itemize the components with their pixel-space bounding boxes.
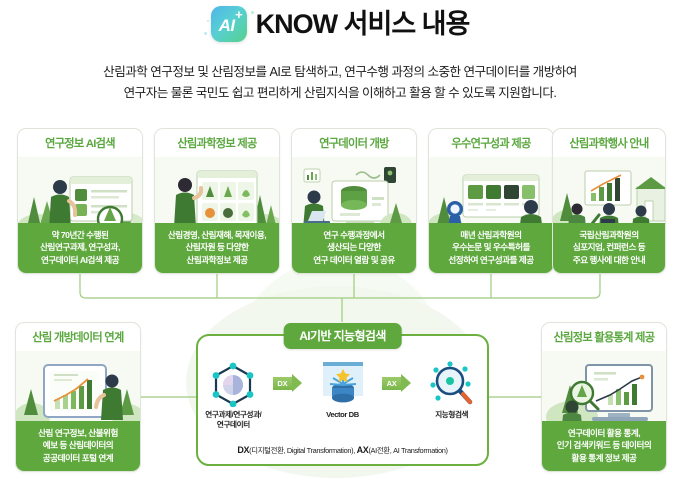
footnote-dx-term: DX (237, 445, 249, 455)
service-card-open-data-link[interactable]: 산림 개방데이터 연계 산림 연구정보, 산불위험예보 등 산림데이터의공공데이… (15, 322, 141, 472)
illustration-presentation-event-with-people (553, 157, 665, 223)
flow-step-vector-db: Vector DB (307, 360, 378, 420)
ai-logo-plus: + (235, 8, 243, 21)
arrow-ax-label: AX (382, 377, 401, 390)
card-title: 산림과학정보 제공 (155, 129, 279, 157)
subtitle-line-2: 연구자는 물론 국민도 쉽고 편리하게 산림지식을 이해하고 활용 할 수 있도… (40, 83, 640, 104)
card-description: 매년 산림과학원의우수논문 및 우수특허를선정하여 연구성과를 제공 (429, 223, 553, 273)
ai-panel-badge: AI기반 지능형검색 (283, 323, 402, 349)
illustration-person-at-desk-with-database (292, 157, 416, 223)
card-description: 연구 수행과정에서생산되는 다양한연구 데이터 열람 및 공유 (292, 223, 416, 273)
footnote-dx-rest: (디지털전환, Digital Transformation), (249, 446, 356, 455)
flow-step-label: Vector DB (307, 410, 378, 420)
card-description: 산림 연구정보, 산불위험예보 등 산림데이터의공공데이터 포털 연계 (16, 421, 140, 471)
page-header: AI + KNOW 서비스 내용 (0, 6, 680, 42)
hexagon-network-icon (198, 360, 269, 408)
service-card-usage-statistics[interactable]: 산림정보 활용통계 제공 연구데이터 활용 통계,인기 검색키워드 등 데이터의… (541, 322, 667, 472)
card-title: 산림정보 활용통계 제공 (542, 323, 666, 351)
footnote-ax-rest: (AI전환, AI Transformation) (368, 446, 447, 455)
ai-flow-diagram: 연구과제/연구성과/연구데이터 DX (198, 360, 487, 431)
footnote-ax-term: AX (357, 445, 369, 455)
service-card-forest-events[interactable]: 산림과학행사 안내 국립산림과학원의심포지엄, 컨퍼런스 등주요 행사 (552, 128, 666, 274)
subtitle-line-1: 산림과학 연구정보 및 산림정보를 AI로 탐색하고, 연구수행 과정의 소중한… (40, 62, 640, 83)
card-title: 연구정보 AI검색 (18, 129, 142, 157)
logo-spark-3 (251, 11, 254, 14)
illustration-person-presenting-info-grid (155, 157, 279, 223)
service-card-research-ai-search[interactable]: 연구정보 AI검색 약 70년간 수행된산림연구과제, 연구성과,연구데이터 A… (17, 128, 143, 274)
illustration-magnifier-over-statistics-monitor (542, 351, 666, 421)
logo-spark-1 (204, 32, 207, 35)
service-card-research-data-open[interactable]: 연구데이터 개방 연구 수행과정에서생산되는 다양한연구 (291, 128, 417, 274)
card-description: 약 70년간 수행된산림연구과제, 연구성과,연구데이터 AI검색 제공 (18, 223, 142, 273)
flow-step-label: 연구과제/연구성과/연구데이터 (198, 410, 269, 431)
illustration-person-with-growth-chart-tablet (16, 351, 140, 421)
arrow-ax-head (401, 374, 411, 392)
arrow-ax: AX (381, 360, 413, 392)
card-title: 산림 개방데이터 연계 (16, 323, 140, 351)
logo-spark-2 (207, 20, 209, 22)
service-card-forest-science-info[interactable]: 산림과학정보 제공 산림경영, 산림재해, 목재이용,산림자원 등 다 (154, 128, 280, 274)
card-title: 연구데이터 개방 (292, 129, 416, 157)
arrow-dx-head (292, 374, 302, 392)
card-description: 산림경영, 산림재해, 목재이용,산림자원 등 다양한산림과학정보 제공 (155, 223, 279, 273)
arrow-dx: DX (272, 360, 304, 392)
flow-step-label: 지능형검색 (416, 410, 487, 420)
card-title: 우수연구성과 제공 (429, 129, 553, 157)
magnifier-nodes-icon (416, 360, 487, 408)
vector-database-icon (307, 360, 378, 408)
illustration-person-searching-research-portal (18, 157, 142, 223)
arrow-dx-label: DX (273, 377, 292, 390)
ai-panel-footnote: DX(디지털전환, Digital Transformation), AX(AI… (198, 445, 487, 456)
ai-plus-logo: AI + (211, 6, 247, 42)
flow-step-research-data: 연구과제/연구성과/연구데이터 (198, 360, 269, 431)
card-description: 국립산림과학원의심포지엄, 컨퍼런스 등주요 행사에 대한 안내 (553, 223, 665, 273)
service-card-excellent-results[interactable]: 우수연구성과 제공 매년 산림과학원의우수논문 및 우수특허를선정하여 (428, 128, 554, 274)
card-title: 산림과학행사 안내 (553, 129, 665, 157)
ai-search-panel: AI기반 지능형검색 연구과제/연구성과/연구데이터 (196, 334, 489, 466)
ai-logo-text: AI (219, 17, 235, 34)
page-subtitle: 산림과학 연구정보 및 산림정보를 AI로 탐색하고, 연구수행 과정의 소중한… (40, 62, 640, 104)
illustration-award-ribbon-with-results-board (429, 157, 553, 223)
card-description: 연구데이터 활용 통계,인기 검색키워드 등 데이터의활용 통계 정보 제공 (542, 421, 666, 471)
page-title: KNOW 서비스 내용 (256, 11, 470, 38)
flow-step-intelligent-search: 지능형검색 (416, 360, 487, 420)
